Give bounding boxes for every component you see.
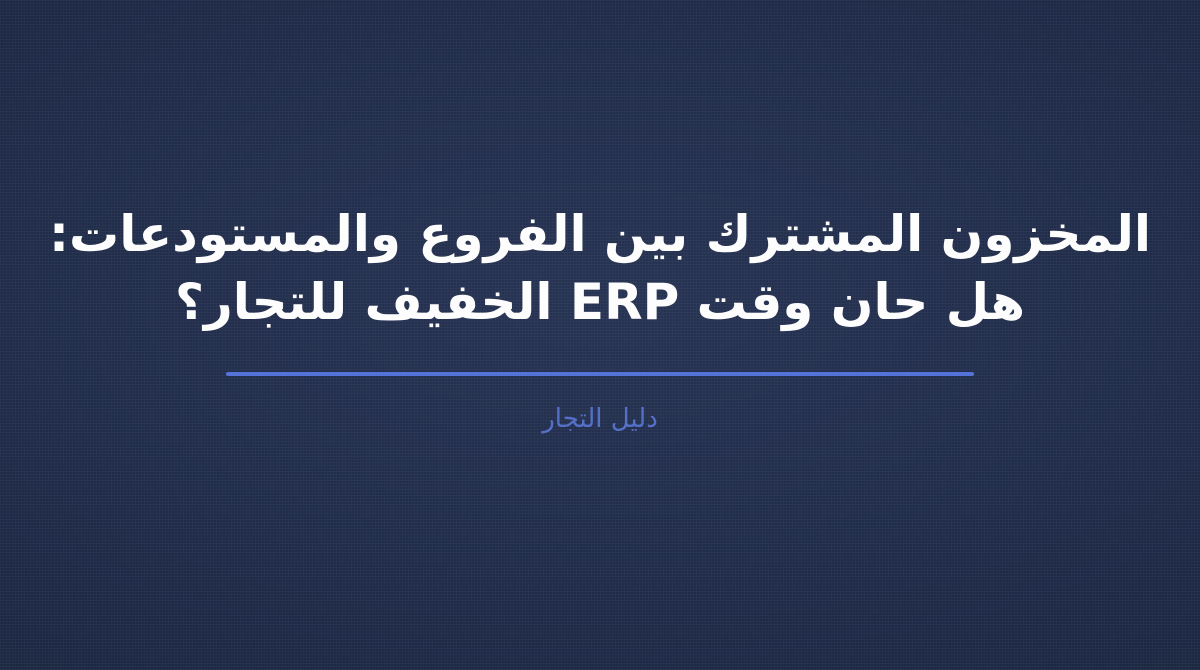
page-title: المخزون المشترك بين الفروع والمستودعات: …	[49, 200, 1151, 336]
page-title-line-2: هل حان وقت ERP الخفيف للتجار؟	[49, 268, 1151, 336]
title-divider	[226, 372, 974, 376]
title-slide: المخزون المشترك بين الفروع والمستودعات: …	[0, 0, 1200, 670]
page-title-line-1: المخزون المشترك بين الفروع والمستودعات:	[49, 200, 1151, 268]
page-subtitle: دليل التجار	[542, 403, 658, 435]
title-card: المخزون المشترك بين الفروع والمستودعات: …	[40, 200, 1160, 435]
